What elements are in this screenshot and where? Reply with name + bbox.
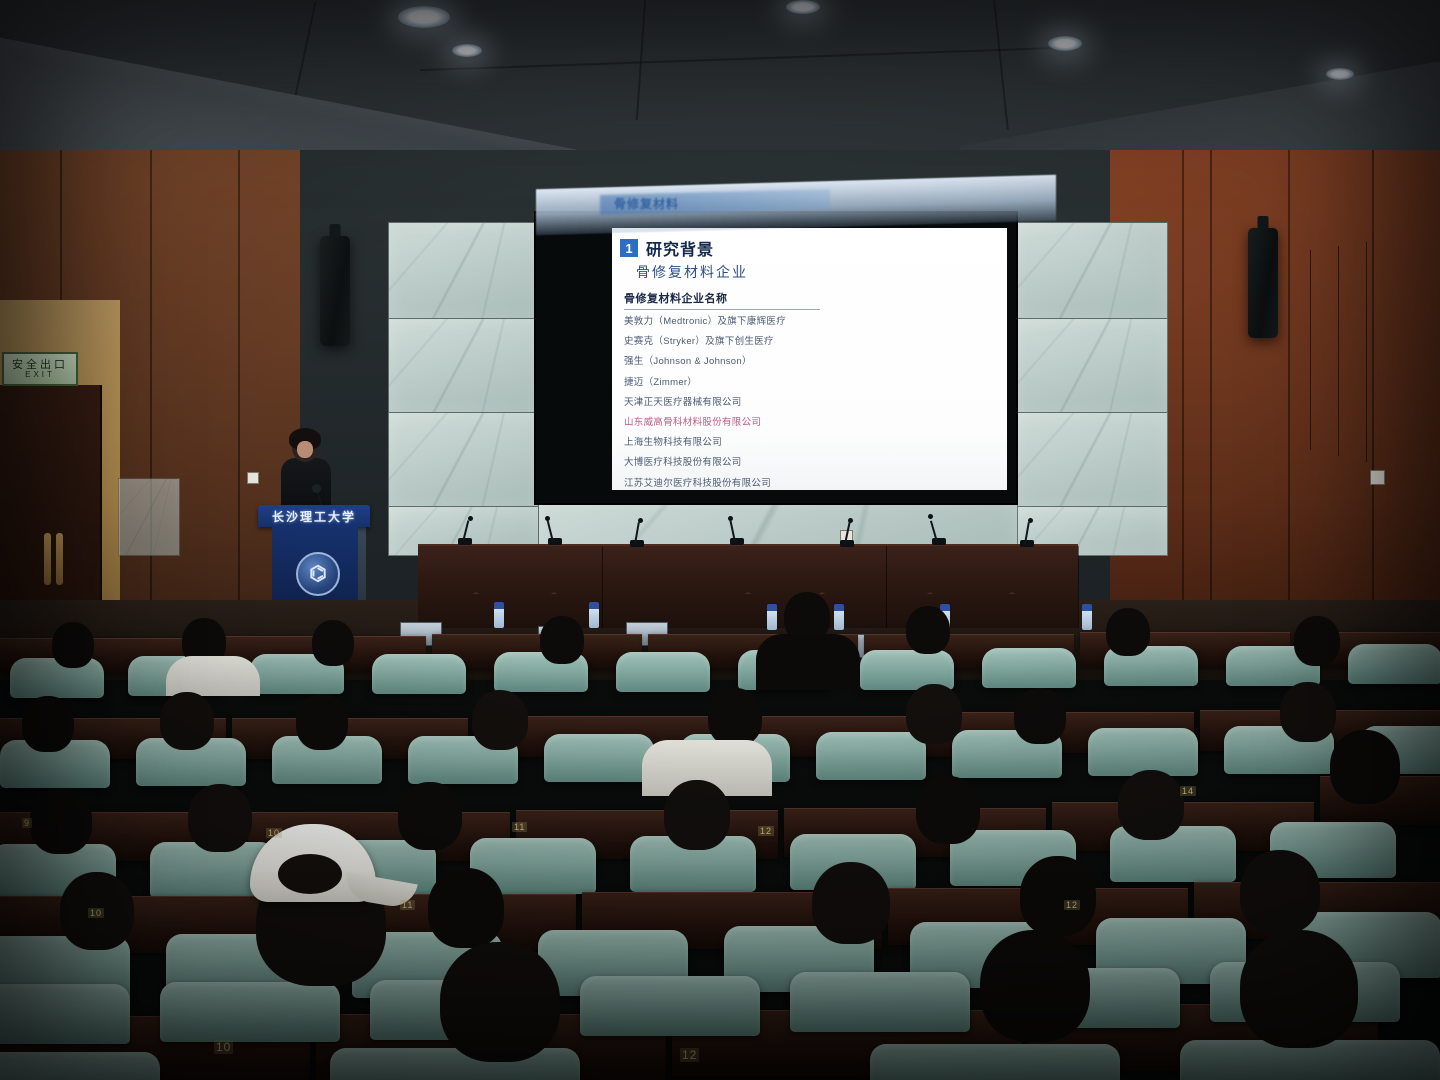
wall-switch[interactable] — [1370, 470, 1385, 485]
slide-table-row: 史赛克（Stryker）及旗下创生医疗 — [624, 330, 820, 350]
audience-head — [1240, 930, 1358, 1048]
audience-head — [1106, 608, 1150, 656]
seat-number: 11 — [400, 900, 415, 910]
ceiling-downlight — [452, 44, 482, 57]
seat-number: 11 — [512, 822, 527, 832]
audience-head — [30, 788, 92, 854]
seat-number: 9 — [22, 818, 32, 828]
auditorium-seat[interactable] — [616, 652, 710, 692]
wood-seam — [1372, 150, 1374, 630]
presenter-face — [297, 441, 313, 458]
audience-shoulders — [166, 656, 260, 696]
audience-head — [188, 784, 252, 852]
microphone-head — [638, 518, 643, 523]
auditorium-seat[interactable] — [0, 984, 130, 1044]
slide-table-row: 大博医疗科技股份有限公司 — [624, 451, 820, 471]
slide-subtitle: 骨修复材料企业 — [636, 262, 748, 282]
door-handle[interactable] — [56, 533, 63, 585]
audience-shoulders — [756, 634, 860, 690]
hanging-wire — [1338, 246, 1339, 456]
auditorium-seat[interactable] — [0, 1052, 160, 1080]
auditorium-seat[interactable] — [790, 972, 970, 1032]
slide-heading: 1 研究背景 — [620, 236, 714, 260]
audience-head — [708, 688, 762, 746]
audience-head — [1014, 688, 1066, 744]
wood-seam — [150, 150, 152, 630]
exit-sign: 安全出口 EXIT — [2, 352, 78, 386]
audience-head — [1330, 730, 1400, 804]
microphone-base — [458, 538, 472, 545]
microphone-head — [468, 516, 473, 521]
hanging-wire — [1366, 242, 1367, 462]
wood-seam — [1210, 150, 1212, 630]
audience-head — [160, 692, 214, 750]
audience-head — [540, 616, 584, 664]
audience-head — [312, 620, 354, 666]
podium-microphone-head — [312, 484, 321, 493]
slide-table-row: 天津正天医疗器械有限公司 — [624, 391, 820, 411]
exit-sign-en: EXIT — [25, 371, 55, 379]
microphone-head — [928, 514, 933, 519]
auditorium-seat[interactable] — [816, 732, 926, 780]
university-logo: ⌬ — [296, 552, 340, 596]
microphone-head — [1028, 518, 1033, 523]
seat-number: 10 — [88, 908, 104, 918]
audience-head — [440, 942, 560, 1062]
lecture-hall-photo: 安全出口 EXIT 1 研究背景 骨修复材料企业 骨修复材料企业名称 美敦力（M… — [0, 0, 1440, 1080]
auditorium-seat[interactable] — [372, 654, 466, 694]
microphone-base — [730, 538, 744, 545]
marble-panel — [118, 478, 180, 556]
slide-table: 骨修复材料企业名称 美敦力（Medtronic）及旗下康辉医疗 史赛克（Stry… — [624, 290, 820, 490]
auditorium-seat[interactable] — [330, 1048, 580, 1080]
seat-number: 14 — [1180, 786, 1196, 796]
audience-head — [1020, 856, 1096, 936]
cap-opening — [278, 854, 342, 894]
microphone-head — [728, 516, 733, 521]
projection-screen: 1 研究背景 骨修复材料企业 骨修复材料企业名称 美敦力（Medtronic）及… — [612, 228, 1007, 490]
auditorium-seat[interactable] — [1348, 644, 1440, 684]
slide-section-title: 研究背景 — [646, 236, 714, 260]
hanging-wire — [1310, 250, 1311, 450]
slide-table-row-highlighted: 山东威高骨科材料股份有限公司 — [624, 411, 820, 431]
microphone-base — [932, 538, 946, 545]
audience-head — [22, 696, 74, 752]
auditorium-seat[interactable] — [160, 982, 340, 1042]
slide-table-row: 强生（Johnson & Johnson） — [624, 350, 820, 370]
audience-head — [1118, 770, 1184, 840]
auditorium-seat[interactable] — [580, 976, 760, 1036]
auditorium-seat[interactable] — [10, 658, 104, 698]
slide-table-row: 上海生物科技有限公司 — [624, 431, 820, 451]
slide-table-row: 江苏艾迪尔医疗科技股份有限公司 — [624, 472, 820, 491]
auditorium-seat[interactable] — [544, 734, 654, 782]
seat-number: 12 — [680, 1048, 699, 1062]
slide-table-row: 捷迈（Zimmer） — [624, 371, 820, 391]
microphone-base — [840, 540, 854, 547]
seat-number: 12 — [758, 826, 774, 836]
marble-panel — [388, 318, 540, 414]
ceiling-downlight — [786, 0, 820, 14]
audience-head — [1280, 682, 1336, 742]
audience-seating: 9 10 11 12 14 10 11 12 10 12 — [0, 600, 1440, 1080]
marble-panel — [1014, 412, 1168, 508]
audience-head — [472, 690, 528, 750]
marble-panel — [1014, 222, 1168, 320]
ceiling-downlight — [1048, 36, 1082, 51]
auditorium-seat[interactable] — [982, 648, 1076, 688]
seat-number: 10 — [266, 828, 282, 838]
slide-section-number: 1 — [620, 239, 638, 257]
audience-head — [812, 862, 890, 944]
ceiling-downlight — [1326, 68, 1354, 80]
audience-head — [906, 606, 950, 654]
marble-panel — [1014, 318, 1168, 414]
podium-university-name: 长沙理工大学 — [262, 508, 366, 525]
door-handle[interactable] — [44, 533, 51, 585]
wall-speaker-left — [320, 236, 350, 346]
audience-head — [398, 782, 462, 850]
exit-sign-cn: 安全出口 — [12, 360, 68, 371]
wall-speaker-right — [1248, 228, 1278, 338]
wall-switch[interactable] — [247, 472, 259, 484]
audience-head — [906, 684, 962, 744]
wood-seam — [1182, 150, 1184, 630]
audience-head — [428, 868, 504, 948]
wood-seam — [238, 150, 240, 630]
exit-door[interactable] — [0, 385, 102, 625]
audience-head — [664, 780, 730, 850]
screen-glare-text: 骨修复材料 — [614, 195, 679, 212]
microphone-base — [1020, 540, 1034, 547]
audience-head — [1240, 850, 1320, 934]
microphone-base — [548, 538, 562, 545]
audience-head — [1294, 616, 1340, 666]
slide-table-row: 美敦力（Medtronic）及旗下康辉医疗 — [624, 310, 820, 330]
seat-number: 10 — [214, 1040, 233, 1054]
marble-panel — [388, 222, 540, 320]
speaker-mount — [1258, 216, 1269, 229]
audience-head — [52, 622, 94, 668]
seat-number: 12 — [1064, 900, 1080, 910]
slide-table-header: 骨修复材料企业名称 — [624, 290, 820, 310]
ceiling-downlight — [398, 6, 450, 28]
speaker-mount — [330, 224, 341, 237]
microphone-head — [545, 516, 550, 521]
audience-head — [916, 776, 980, 844]
audience-head — [296, 694, 348, 750]
microphone-head — [848, 518, 853, 523]
microphone-base — [630, 540, 644, 547]
auditorium-seat[interactable] — [1088, 728, 1198, 776]
marble-panel — [388, 412, 540, 508]
audience-head — [980, 930, 1090, 1042]
auditorium-seat[interactable] — [870, 1044, 1120, 1080]
wood-seam — [1288, 150, 1290, 630]
